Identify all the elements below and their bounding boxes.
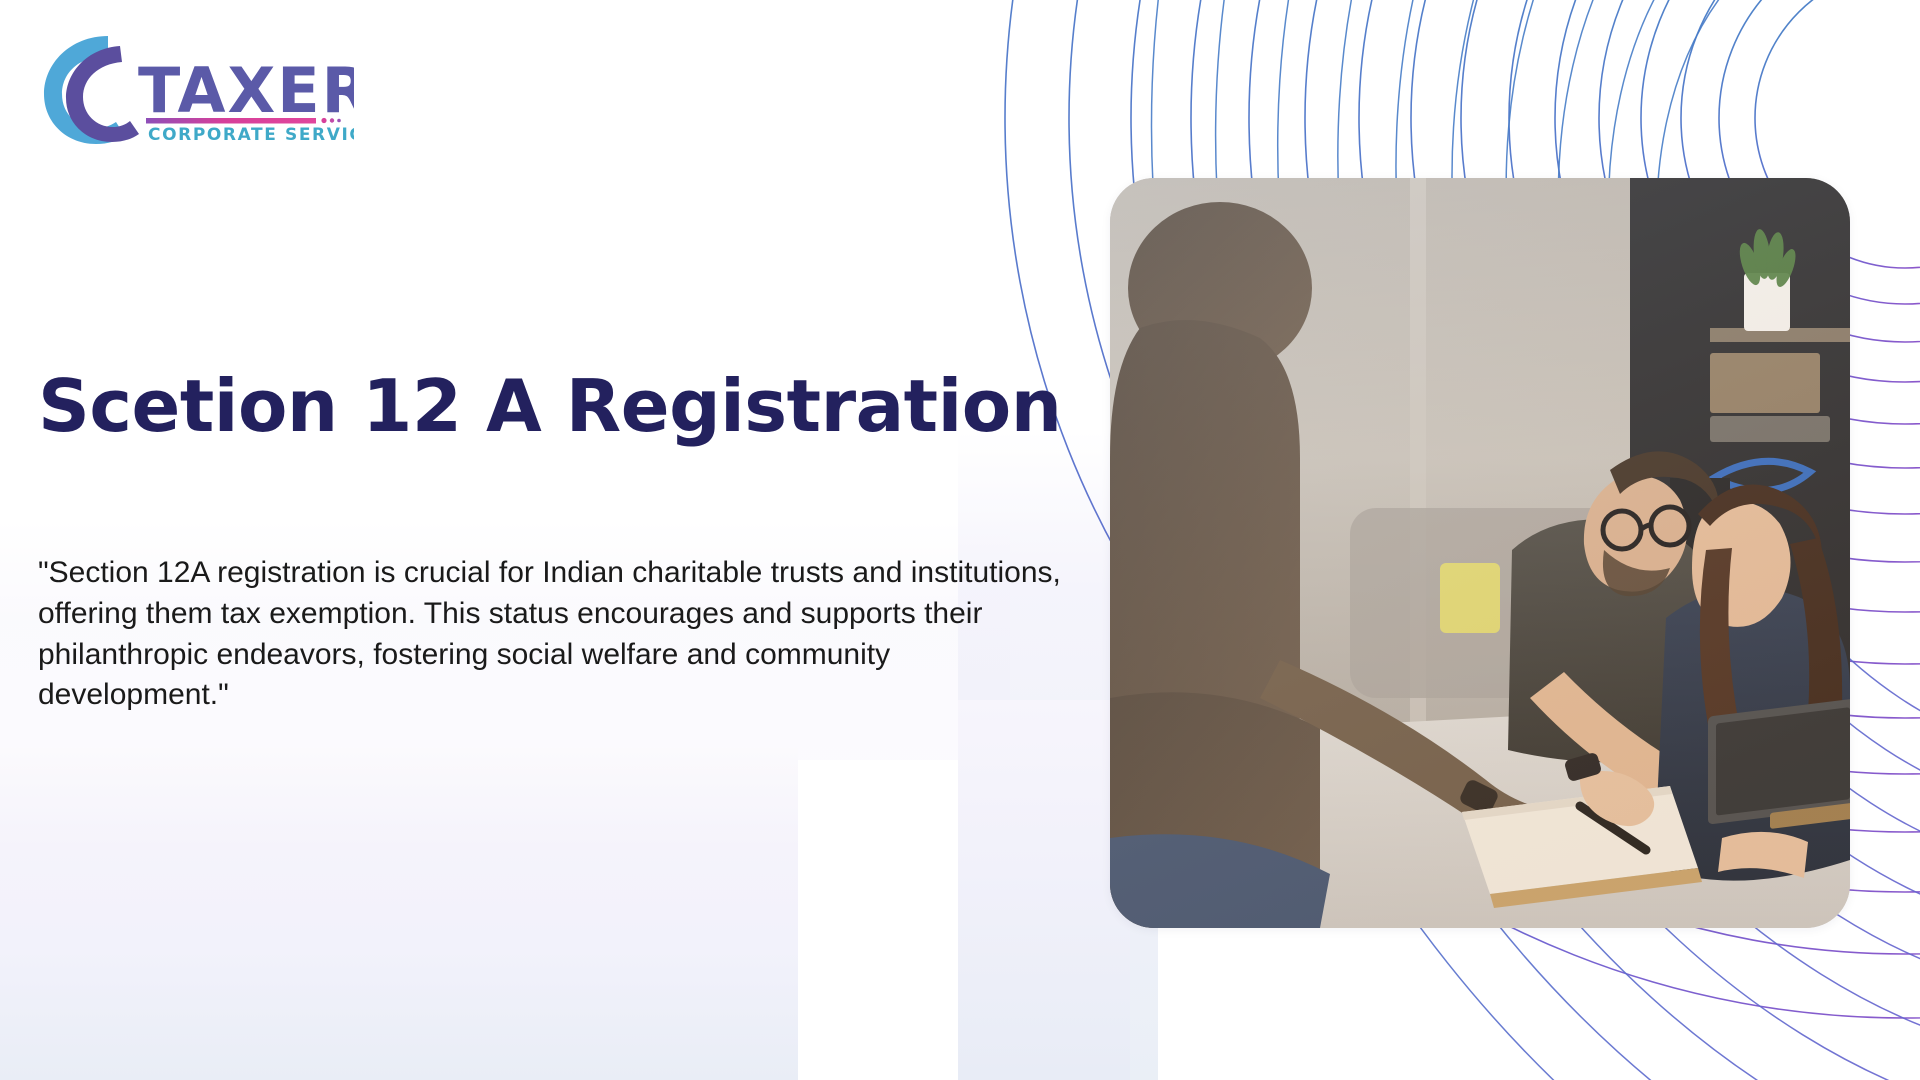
logo-dot-1 [321,118,326,123]
logo-wordmark: TAXER [138,54,354,127]
logo-dot-3 [337,119,341,123]
hero-photo-card [1110,178,1850,928]
logo-divider-rule [146,118,316,124]
logo-tagline: CORPORATE SERVICES [148,125,354,145]
slide-canvas: TAXER CORPORATE SERVICES Scetion 12 A Re… [0,0,1920,1080]
logo-dot-2 [330,118,334,122]
background-panel-bottom-middle [958,700,1130,1080]
hero-photo [1110,178,1850,928]
page-title: Scetion 12 A Registration [38,368,1098,446]
brand-logo[interactable]: TAXER CORPORATE SERVICES [34,26,354,146]
background-panel-bottom-left [0,748,798,1080]
body-quote: "Section 12A registration is crucial for… [38,553,1068,716]
